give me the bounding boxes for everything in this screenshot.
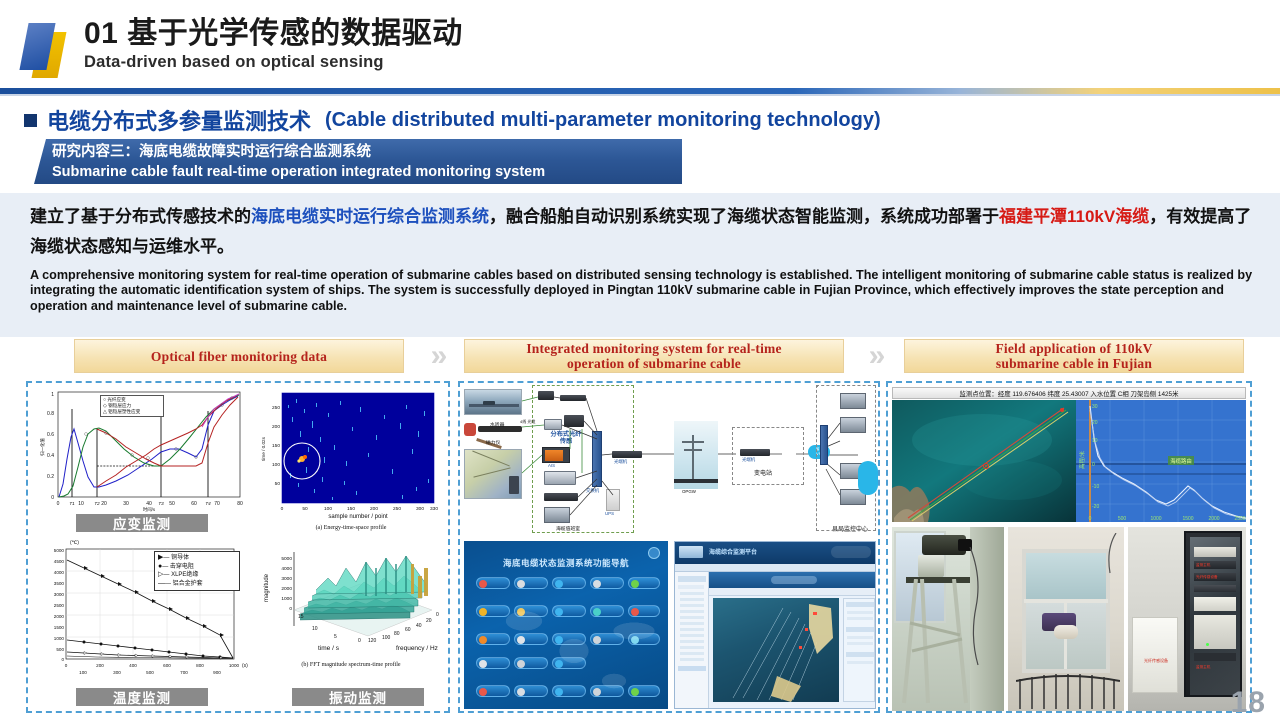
abstract-cn-part2: ，融合船舶自动识别系统实现了海缆状态智能监测，系统成功部署 — [489, 207, 982, 226]
svg-text:10: 10 — [312, 626, 318, 632]
svg-text:40: 40 — [416, 623, 422, 629]
parallelogram-logo-icon — [20, 20, 78, 80]
ais-titlebar: 海缆综合监测平台 — [675, 542, 876, 564]
svg-text:0: 0 — [57, 501, 60, 507]
ais-tree-sidebar[interactable] — [675, 572, 709, 709]
ais-logo — [679, 546, 703, 558]
svg-text:2000: 2000 — [281, 586, 292, 592]
svg-text:0: 0 — [1089, 516, 1092, 522]
substation-label: 变电站 — [754, 471, 772, 477]
white-cabinet: 光纤传感设备 — [1132, 617, 1178, 693]
svg-text:0: 0 — [358, 638, 361, 644]
temp-legend-item-0: ▶— 铜导体 — [158, 554, 236, 563]
ais-menu-strip[interactable] — [675, 564, 876, 572]
svg-text:330: 330 — [430, 506, 438, 512]
ais-monitoring-screenshot[interactable]: 海缆综合监测平台 — [674, 541, 876, 709]
svg-text:70: 70 — [214, 501, 220, 507]
dash-btn-2[interactable] — [552, 577, 586, 589]
rack-cabinet: 监测主机 光纤传感设备 监测主机 — [1184, 531, 1242, 697]
data-center-cloud-icon — [858, 461, 878, 495]
panel-header-3-label: Field application of 110kV submarine cab… — [995, 341, 1152, 371]
svg-text:2500: 2500 — [1234, 516, 1245, 522]
svg-text:500: 500 — [146, 670, 154, 675]
temp-legend-label-3: 铝合金护套 — [173, 581, 203, 587]
svg-text:高程/米: 高程/米 — [1078, 450, 1086, 469]
temp-legend-item-3: —— 铝合金护套 — [158, 580, 236, 589]
dash-btn-0[interactable] — [476, 577, 510, 589]
svg-text:T4: T4 — [205, 501, 211, 506]
research-banner-en: Submarine cable fault real-time operatio… — [52, 162, 682, 182]
svg-text:0: 0 — [51, 495, 54, 501]
abstract-en: A comprehensive monitoring system for re… — [30, 268, 1254, 314]
abstract-cn-part1: 建立了基于分布式传感技术的 — [30, 207, 251, 226]
ais-toolbar[interactable] — [709, 588, 876, 596]
strain-monitoring-chart: 0 0.2 0.4 0.6 0.8 1 01020 304050 607080 … — [36, 387, 250, 519]
svg-text:1000: 1000 — [229, 663, 240, 668]
monitoring-point-header: 监测点位置：经度 119.676406 纬度 25.43007 入水位置 C相 … — [892, 387, 1246, 399]
chevron-right-icon-2: » — [852, 340, 896, 372]
svg-text:0.6: 0.6 — [47, 432, 54, 438]
svg-text:10: 10 — [78, 501, 84, 507]
svg-text:10: 10 — [1092, 438, 1098, 444]
svg-text:5000: 5000 — [54, 548, 65, 553]
svg-text:3000: 3000 — [281, 576, 292, 582]
svg-text:(b) FFT magnitude spectrum-tim: (b) FFT magnitude spectrum-time profile — [301, 661, 401, 668]
svg-text:100: 100 — [324, 506, 332, 512]
header-titles: 01 基于光学传感的数据驱动 Data-driven based on opti… — [84, 16, 463, 72]
photo-camera-on-tripod — [892, 527, 1004, 711]
header-thin-rule — [0, 94, 1280, 96]
ais-info-panel — [843, 598, 875, 702]
svg-text:2500: 2500 — [54, 603, 65, 608]
strain-legend-label-1: 钢铠层应力 — [108, 403, 131, 408]
svg-text:100: 100 — [382, 635, 391, 641]
temp-legend-item-2: ▷— XLPE绝缘 — [158, 571, 236, 580]
page-number: 18 — [1231, 686, 1266, 720]
svg-text:magnitude: magnitude — [264, 573, 270, 602]
svg-text:50: 50 — [302, 506, 308, 512]
svg-text:T3: T3 — [158, 501, 164, 506]
svg-text:150: 150 — [347, 506, 355, 512]
temperature-chart-legend: ▶— 铜导体 ●— 击穿电阻 ▷— XLPE绝缘 —— 铝合金护套 — [154, 551, 240, 591]
svg-text:0: 0 — [281, 506, 284, 512]
temperature-monitoring-chart: (℃) 500045004000 350030002500 2000150010… — [36, 535, 250, 687]
svg-text:120: 120 — [368, 638, 377, 644]
svg-text:sample number / point: sample number / point — [328, 514, 388, 520]
fft-magnitude-spectrum-chart: 500040003000 200010000 magnitude — [256, 538, 446, 688]
workstation-2 — [840, 417, 866, 433]
photo-window-observation-post — [1008, 527, 1124, 711]
svg-text:200: 200 — [96, 663, 104, 668]
energy-chart-svg: 50100150 200250 050100 150200250 300330 … — [256, 387, 446, 533]
caption-vibration-monitoring: 振动监测 — [292, 688, 424, 706]
svg-text:time / 0.02s: time / 0.02s — [261, 436, 266, 460]
svg-text:500: 500 — [56, 647, 64, 652]
svg-text:1000: 1000 — [54, 636, 65, 641]
svg-text:50: 50 — [169, 501, 175, 507]
section-heading-cn: 电缆分布式多参量监测技术 — [47, 104, 311, 136]
research-banner-cn: 研究内容三：海底电缆故障实时运行综合监测系统 — [52, 142, 682, 162]
svg-text:frequency / Hz: frequency / Hz — [396, 645, 438, 652]
square-bullet-icon — [24, 114, 37, 127]
monitoring-dashboard-screenshot[interactable]: 海底电缆状态监测系统功能导航 — [464, 541, 668, 709]
svg-text:300: 300 — [113, 670, 121, 675]
panel-header-integrated-system: Integrated monitoring system for real-ti… — [464, 339, 844, 373]
white-cabinet-label: 光纤传感设备 — [1139, 658, 1173, 664]
photo-equipment-rack-cabinet: 光纤传感设备 监测主机 光纤传感设备 监测主机 — [1128, 527, 1246, 711]
dashboard-title: 海底电缆状态监测系统功能导航 — [464, 557, 668, 569]
ais-sub-banner — [709, 572, 876, 588]
svg-text:60: 60 — [405, 627, 411, 633]
svg-text:归一化值: 归一化值 — [39, 438, 46, 456]
optical-terminal-label-2: 光端机 — [742, 457, 755, 462]
workstation-1 — [840, 393, 866, 409]
svg-text:0: 0 — [1092, 462, 1095, 468]
svg-text:T1: T1 — [69, 501, 75, 506]
dashboard-world-map-bg — [494, 601, 664, 701]
svg-text:1000: 1000 — [1150, 516, 1161, 522]
caption-temperature-monitoring: 温度监测 — [76, 688, 208, 706]
svg-text:150: 150 — [272, 443, 280, 449]
abstract-cn-highlight-blue: 海底电缆实时运行综合监测系统 — [251, 207, 489, 226]
section-heading-en: (Cable distributed multi-parameter monit… — [325, 109, 881, 132]
svg-text:50: 50 — [275, 481, 281, 487]
svg-text:800: 800 — [196, 663, 204, 668]
monitoring-point-info: 监测点位置：经度 119.676406 纬度 25.43007 入水位置 C相 … — [959, 389, 1178, 398]
panel-header-2-line2: operation of submarine cable — [567, 356, 741, 371]
svg-text:海缆路由: 海缆路由 — [1170, 457, 1192, 465]
svg-text:0: 0 — [436, 612, 439, 618]
svg-text:200: 200 — [370, 506, 378, 512]
center-switch-node — [820, 425, 828, 465]
svg-text:20: 20 — [426, 618, 432, 624]
dash-btn-4[interactable] — [628, 577, 660, 589]
abstract-cn-part3: 于 — [982, 207, 999, 226]
monitoring-center-workstations — [816, 385, 878, 533]
svg-text:1000: 1000 — [281, 596, 292, 602]
temp-legend-label-1: 击穿电阻 — [170, 564, 194, 570]
svg-text:80: 80 — [394, 631, 400, 637]
seabed-depth-profile-plot: 高程/米 302010 0-10-20 05001000 15002000250… — [1076, 400, 1246, 522]
svg-text:80: 80 — [237, 501, 243, 507]
svg-text:4000: 4000 — [281, 566, 292, 572]
svg-text:200: 200 — [272, 424, 280, 430]
svg-text:0: 0 — [289, 606, 292, 612]
fft-chart-svg: 500040003000 200010000 magnitude — [256, 538, 446, 688]
panel-header-2-line1: Integrated monitoring system for real-ti… — [526, 341, 781, 356]
svg-text:0: 0 — [61, 657, 64, 662]
svg-text:1500: 1500 — [54, 625, 65, 630]
svg-text:20: 20 — [1092, 420, 1098, 426]
svg-text:0: 0 — [65, 663, 68, 668]
section-heading: 电缆分布式多参量监测技术 (Cable distributed multi-pa… — [24, 104, 881, 136]
svg-text:5: 5 — [334, 634, 337, 640]
svg-text:300: 300 — [416, 506, 424, 512]
svg-text:(a) Energy-time-space profile: (a) Energy-time-space profile — [316, 524, 387, 531]
svg-text:time / s: time / s — [318, 645, 340, 652]
panel-header-row: Optical fiber monitoring data » Integrat… — [0, 339, 1280, 377]
rack-label-3: 监测主机 — [1196, 665, 1210, 670]
energy-time-space-chart: 50100150 200250 050100 150200250 300330 … — [256, 387, 446, 533]
svg-text:3500: 3500 — [54, 581, 65, 586]
svg-text:400: 400 — [129, 663, 137, 668]
svg-text:0.8: 0.8 — [47, 411, 54, 417]
panel-header-2-label: Integrated monitoring system for real-ti… — [526, 341, 781, 371]
svg-text:0.4: 0.4 — [47, 453, 54, 459]
svg-text:4000: 4000 — [54, 570, 65, 575]
panel-header-optical-fiber-data: Optical fiber monitoring data — [74, 339, 404, 373]
integrated-monitoring-system-panel: 水听器 磁力仪 海缆值班室 分布式光纤 传感 4线 光缆 AIS — [458, 381, 880, 713]
rack-label-1: 监测主机 — [1196, 563, 1210, 568]
svg-text:4500: 4500 — [54, 559, 65, 564]
svg-text:5000: 5000 — [281, 556, 292, 562]
opgw-tower-photo — [674, 421, 718, 489]
svg-text:30: 30 — [1092, 404, 1098, 410]
svg-text:时间/s: 时间/s — [143, 506, 156, 513]
page-title-cn: 01 基于光学传感的数据驱动 — [84, 16, 463, 51]
strain-chart-legend: ○ 光纤应变 ◇ 钢铠层应力 △ 铝铠层塑性应变 — [100, 395, 164, 417]
temp-legend-label-0: 铜导体 — [171, 555, 189, 561]
svg-text:100: 100 — [272, 462, 280, 468]
svg-text:100: 100 — [79, 670, 87, 675]
svg-text:0.2: 0.2 — [47, 474, 54, 480]
strain-legend-item-2: △ 铝铠层塑性应变 — [103, 409, 161, 415]
svg-text:T2: T2 — [94, 501, 100, 506]
svg-text:(℃): (℃) — [70, 540, 79, 546]
svg-text:1500: 1500 — [1182, 516, 1193, 522]
svg-text:20: 20 — [101, 501, 107, 507]
temp-legend-item-1: ●— 击穿电阻 — [158, 563, 236, 572]
ais-titlebar-label: 海缆综合监测平台 — [709, 547, 757, 556]
dash-btn-1[interactable] — [514, 577, 548, 589]
svg-text:-20: -20 — [1092, 504, 1099, 510]
svg-text:500: 500 — [1118, 516, 1127, 522]
caption-strain-monitoring: 应变监测 — [76, 514, 208, 532]
svg-text:3000: 3000 — [54, 592, 65, 597]
svg-text:600: 600 — [163, 663, 171, 668]
temp-legend-label-2: XLPE绝缘 — [171, 572, 198, 578]
optical-fiber-data-panel: 0 0.2 0.4 0.6 0.8 1 01020 304050 607080 … — [26, 381, 450, 713]
abstract-block: 建立了基于分布式传感技术的海底电缆实时运行综合监测系统，融合船舶自动识别系统实现… — [0, 193, 1280, 337]
page-title-en: Data-driven based on optical sensing — [84, 53, 463, 72]
panel-header-field-application: Field application of 110kV submarine cab… — [904, 339, 1244, 373]
svg-text:2000: 2000 — [1208, 516, 1219, 522]
svg-text:30: 30 — [123, 501, 129, 507]
ais-ship-track-view[interactable] — [713, 598, 839, 702]
svg-text:15: 15 — [298, 614, 304, 620]
optical-terminal-node-2 — [740, 449, 770, 456]
panel-header-1-label: Optical fiber monitoring data — [151, 349, 327, 364]
svg-text:900: 900 — [213, 670, 221, 675]
svg-text:60: 60 — [191, 501, 197, 507]
research-topic-banner: 研究内容三：海底电缆故障实时运行综合监测系统 Submarine cable f… — [34, 139, 682, 184]
submarine-cable-route-sonar — [892, 400, 1076, 522]
strain-legend-label-0: 光纤应变 — [107, 397, 125, 402]
abstract-cn-highlight-red: 福建平潭110kV海缆 — [999, 207, 1149, 226]
svg-text:2000: 2000 — [54, 614, 65, 619]
svg-text:700: 700 — [180, 670, 188, 675]
opgw-label: OPGW — [682, 489, 696, 494]
strain-legend-label-2: 铝铠层塑性应变 — [108, 409, 140, 414]
slide-header: 01 基于光学传感的数据驱动 Data-driven based on opti… — [0, 0, 1280, 88]
rack-label-2: 光纤传感设备 — [1196, 575, 1218, 580]
svg-text:250: 250 — [272, 405, 280, 411]
ais-titlebar-controls[interactable] — [831, 546, 871, 558]
svg-text:-10: -10 — [1092, 484, 1099, 490]
svg-text:(s): (s) — [242, 663, 248, 669]
panel-header-3-line2: submarine cable in Fujian — [996, 356, 1152, 371]
abstract-cn: 建立了基于分布式传感技术的海底电缆实时运行综合监测系统，融合船舶自动识别系统实现… — [30, 202, 1254, 262]
svg-text:250: 250 — [393, 506, 401, 512]
svg-text:1: 1 — [51, 392, 54, 398]
dash-btn-3[interactable] — [590, 577, 624, 589]
panel-header-3-line1: Field application of 110kV — [995, 341, 1152, 356]
field-application-panel: 监测点位置：经度 119.676406 纬度 25.43007 入水位置 C相 … — [886, 381, 1252, 713]
dashboard-user-icon[interactable] — [648, 547, 660, 559]
chevron-right-icon-1: » — [414, 340, 458, 372]
